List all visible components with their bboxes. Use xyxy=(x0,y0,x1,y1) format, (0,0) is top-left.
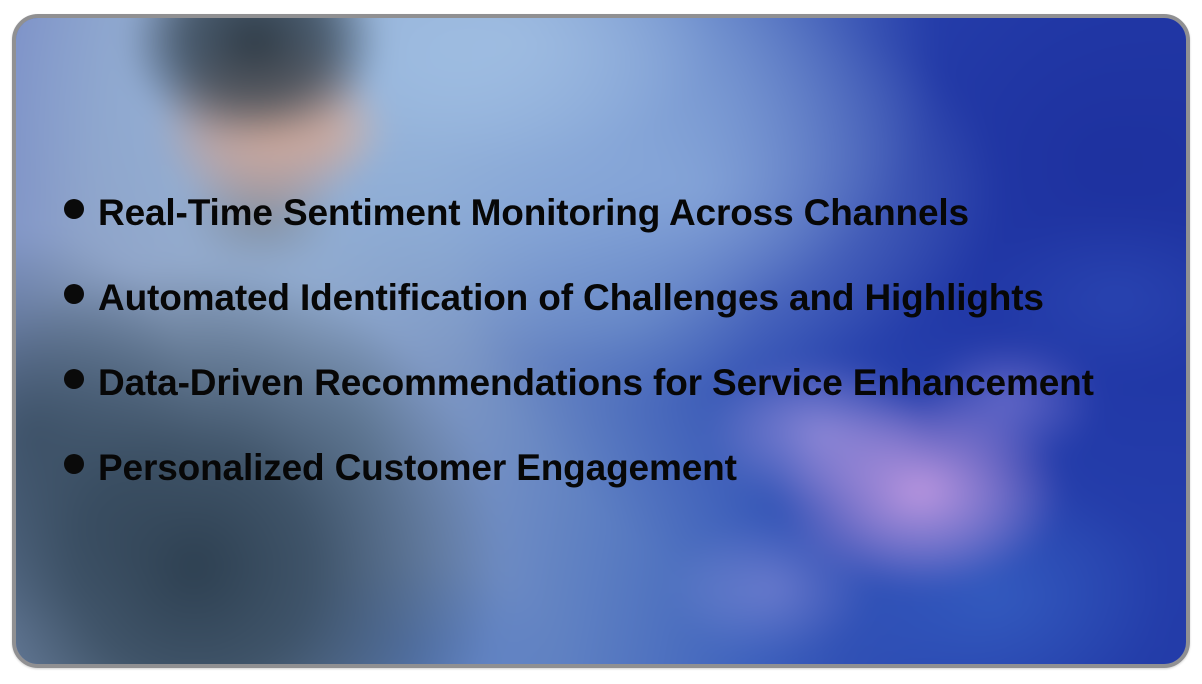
bullet-text-4: Personalized Customer Engagement xyxy=(98,449,737,488)
bullet-dot-icon xyxy=(64,369,84,389)
bullet-text-2: Automated Identification of Challenges a… xyxy=(98,279,1044,318)
bullet-text-3: Data-Driven Recommendations for Service … xyxy=(98,364,1094,403)
bullet-dot-icon xyxy=(64,284,84,304)
bullet-text-1: Real-Time Sentiment Monitoring Across Ch… xyxy=(98,194,969,233)
bullet-item-1: Real-Time Sentiment Monitoring Across Ch… xyxy=(64,194,1162,233)
bullet-item-3: Data-Driven Recommendations for Service … xyxy=(64,364,1162,403)
bullet-dot-icon xyxy=(64,454,84,474)
slide-root: Real-Time Sentiment Monitoring Across Ch… xyxy=(0,0,1202,684)
slide-card: Real-Time Sentiment Monitoring Across Ch… xyxy=(12,14,1190,668)
bullet-item-4: Personalized Customer Engagement xyxy=(64,449,1162,488)
bullet-dot-icon xyxy=(64,199,84,219)
bullet-list: Real-Time Sentiment Monitoring Across Ch… xyxy=(64,18,1162,664)
bullet-item-2: Automated Identification of Challenges a… xyxy=(64,279,1162,318)
